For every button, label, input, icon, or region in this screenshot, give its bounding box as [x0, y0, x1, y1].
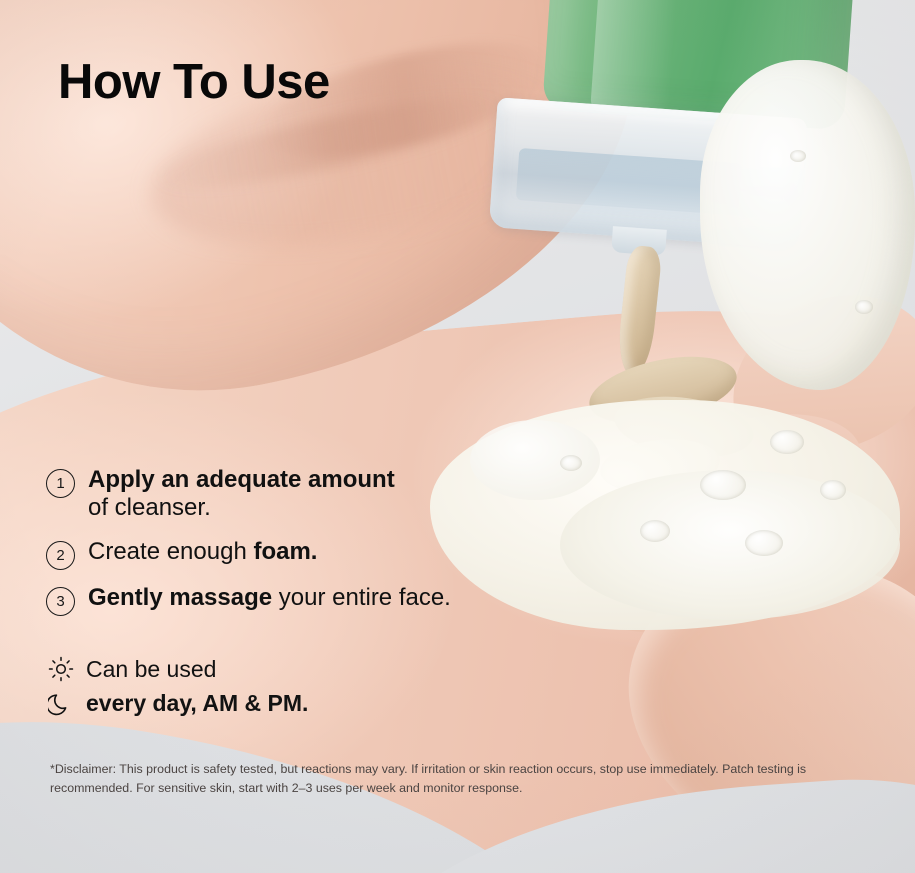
usage-row-day: Can be used — [46, 652, 566, 686]
text-overlay: How To Use 1 Apply an adequate amount of… — [0, 0, 915, 873]
sun-icon — [46, 654, 76, 684]
step-text-2: Create enough foam. — [88, 538, 317, 566]
usage-line-2: every day, AM & PM. — [86, 690, 308, 716]
step-item-2: 2 Create enough foam. — [46, 538, 606, 570]
step-number-1: 1 — [46, 469, 75, 498]
usage-line-1: Can be used — [86, 656, 216, 682]
step-1-bold: Apply an adequate amount — [88, 466, 395, 493]
step-text-3: Gently massage your entire face. — [88, 584, 451, 612]
moon-icon — [46, 688, 76, 718]
step-item-3: 3 Gently massage your entire face. — [46, 584, 606, 616]
steps-list: 1 Apply an adequate amount of cleanser. … — [46, 466, 606, 632]
step-2-lead: Create enough — [88, 538, 253, 565]
step-item-1: 1 Apply an adequate amount of cleanser. — [46, 466, 606, 522]
step-2-bold: foam. — [253, 538, 317, 565]
step-3-rest: your entire face. — [272, 584, 451, 611]
page-title: How To Use — [58, 58, 330, 107]
step-1-rest: of cleanser. — [88, 494, 211, 521]
step-text-1: Apply an adequate amount of cleanser. — [88, 466, 395, 522]
step-3-bold: Gently massage — [88, 584, 272, 611]
usage-frequency-block: Can be used every day, AM & PM. — [46, 652, 566, 720]
how-to-use-infographic: How To Use 1 Apply an adequate amount of… — [0, 0, 915, 873]
disclaimer-text: *Disclaimer: This product is safety test… — [50, 760, 820, 798]
usage-row-night: every day, AM & PM. — [46, 686, 566, 720]
step-number-2: 2 — [46, 541, 75, 570]
step-number-3: 3 — [46, 587, 75, 616]
